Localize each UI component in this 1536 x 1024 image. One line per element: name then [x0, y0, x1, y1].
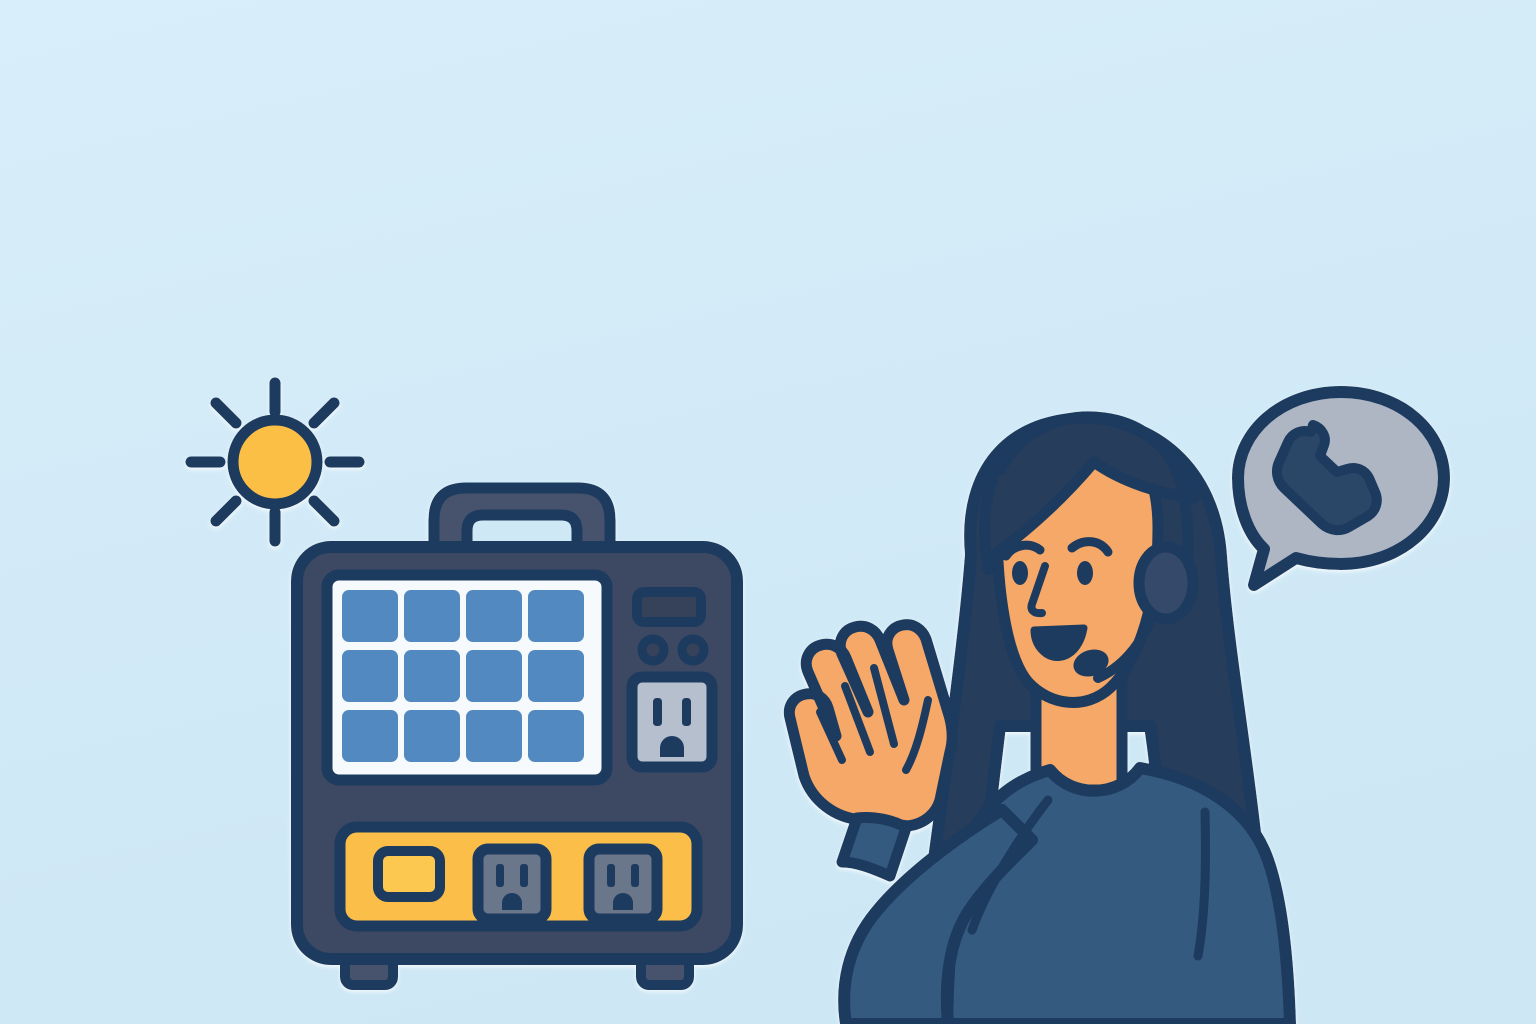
- indicator-button-right[interactable]: [682, 639, 704, 661]
- sun-disc: [233, 420, 317, 504]
- solar-cell: [528, 710, 584, 762]
- solar-cell: [466, 710, 522, 762]
- waving-hand-icon: [789, 625, 952, 826]
- bottom-power-outlet-2[interactable]: [589, 849, 657, 919]
- headset-earpiece: [1139, 547, 1193, 619]
- solar-cell: [342, 710, 398, 762]
- solar-cell: [342, 650, 398, 702]
- side-outlet-slot-left: [653, 698, 662, 726]
- solar-generator-icon: [297, 488, 737, 985]
- bottom-outlet-1-slot-left: [496, 864, 504, 887]
- solar-cell: [466, 590, 522, 642]
- hand-palm: [789, 625, 952, 826]
- bottom-outlet-2-slot-right: [631, 864, 639, 887]
- solar-cell: [404, 650, 460, 702]
- side-power-outlet-icon[interactable]: [632, 677, 712, 767]
- power-button-icon[interactable]: [378, 851, 440, 897]
- indicator-button-left[interactable]: [642, 639, 664, 661]
- poster-canvas: SOLAR GENERATOR INBOUND CALL SYSTEM AI-p…: [0, 0, 1536, 1024]
- eye-right: [1077, 561, 1093, 585]
- sleeve-cuff: [842, 817, 906, 876]
- solar-cell: [404, 590, 460, 642]
- bottom-outlet-1-slot-right: [520, 864, 528, 887]
- illustration-layer: [0, 0, 1536, 1024]
- eye-left: [1012, 561, 1028, 585]
- bottom-power-outlet-1[interactable]: [478, 849, 546, 919]
- display-screen-icon: [637, 592, 701, 622]
- solar-cell: [528, 590, 584, 642]
- bottom-outlet-2-slot-left: [607, 864, 615, 887]
- solar-cell: [466, 650, 522, 702]
- side-outlet-slot-right: [682, 698, 691, 726]
- solar-cell: [404, 710, 460, 762]
- sun-icon: [191, 383, 359, 541]
- solar-cell: [342, 590, 398, 642]
- solar-cell: [528, 650, 584, 702]
